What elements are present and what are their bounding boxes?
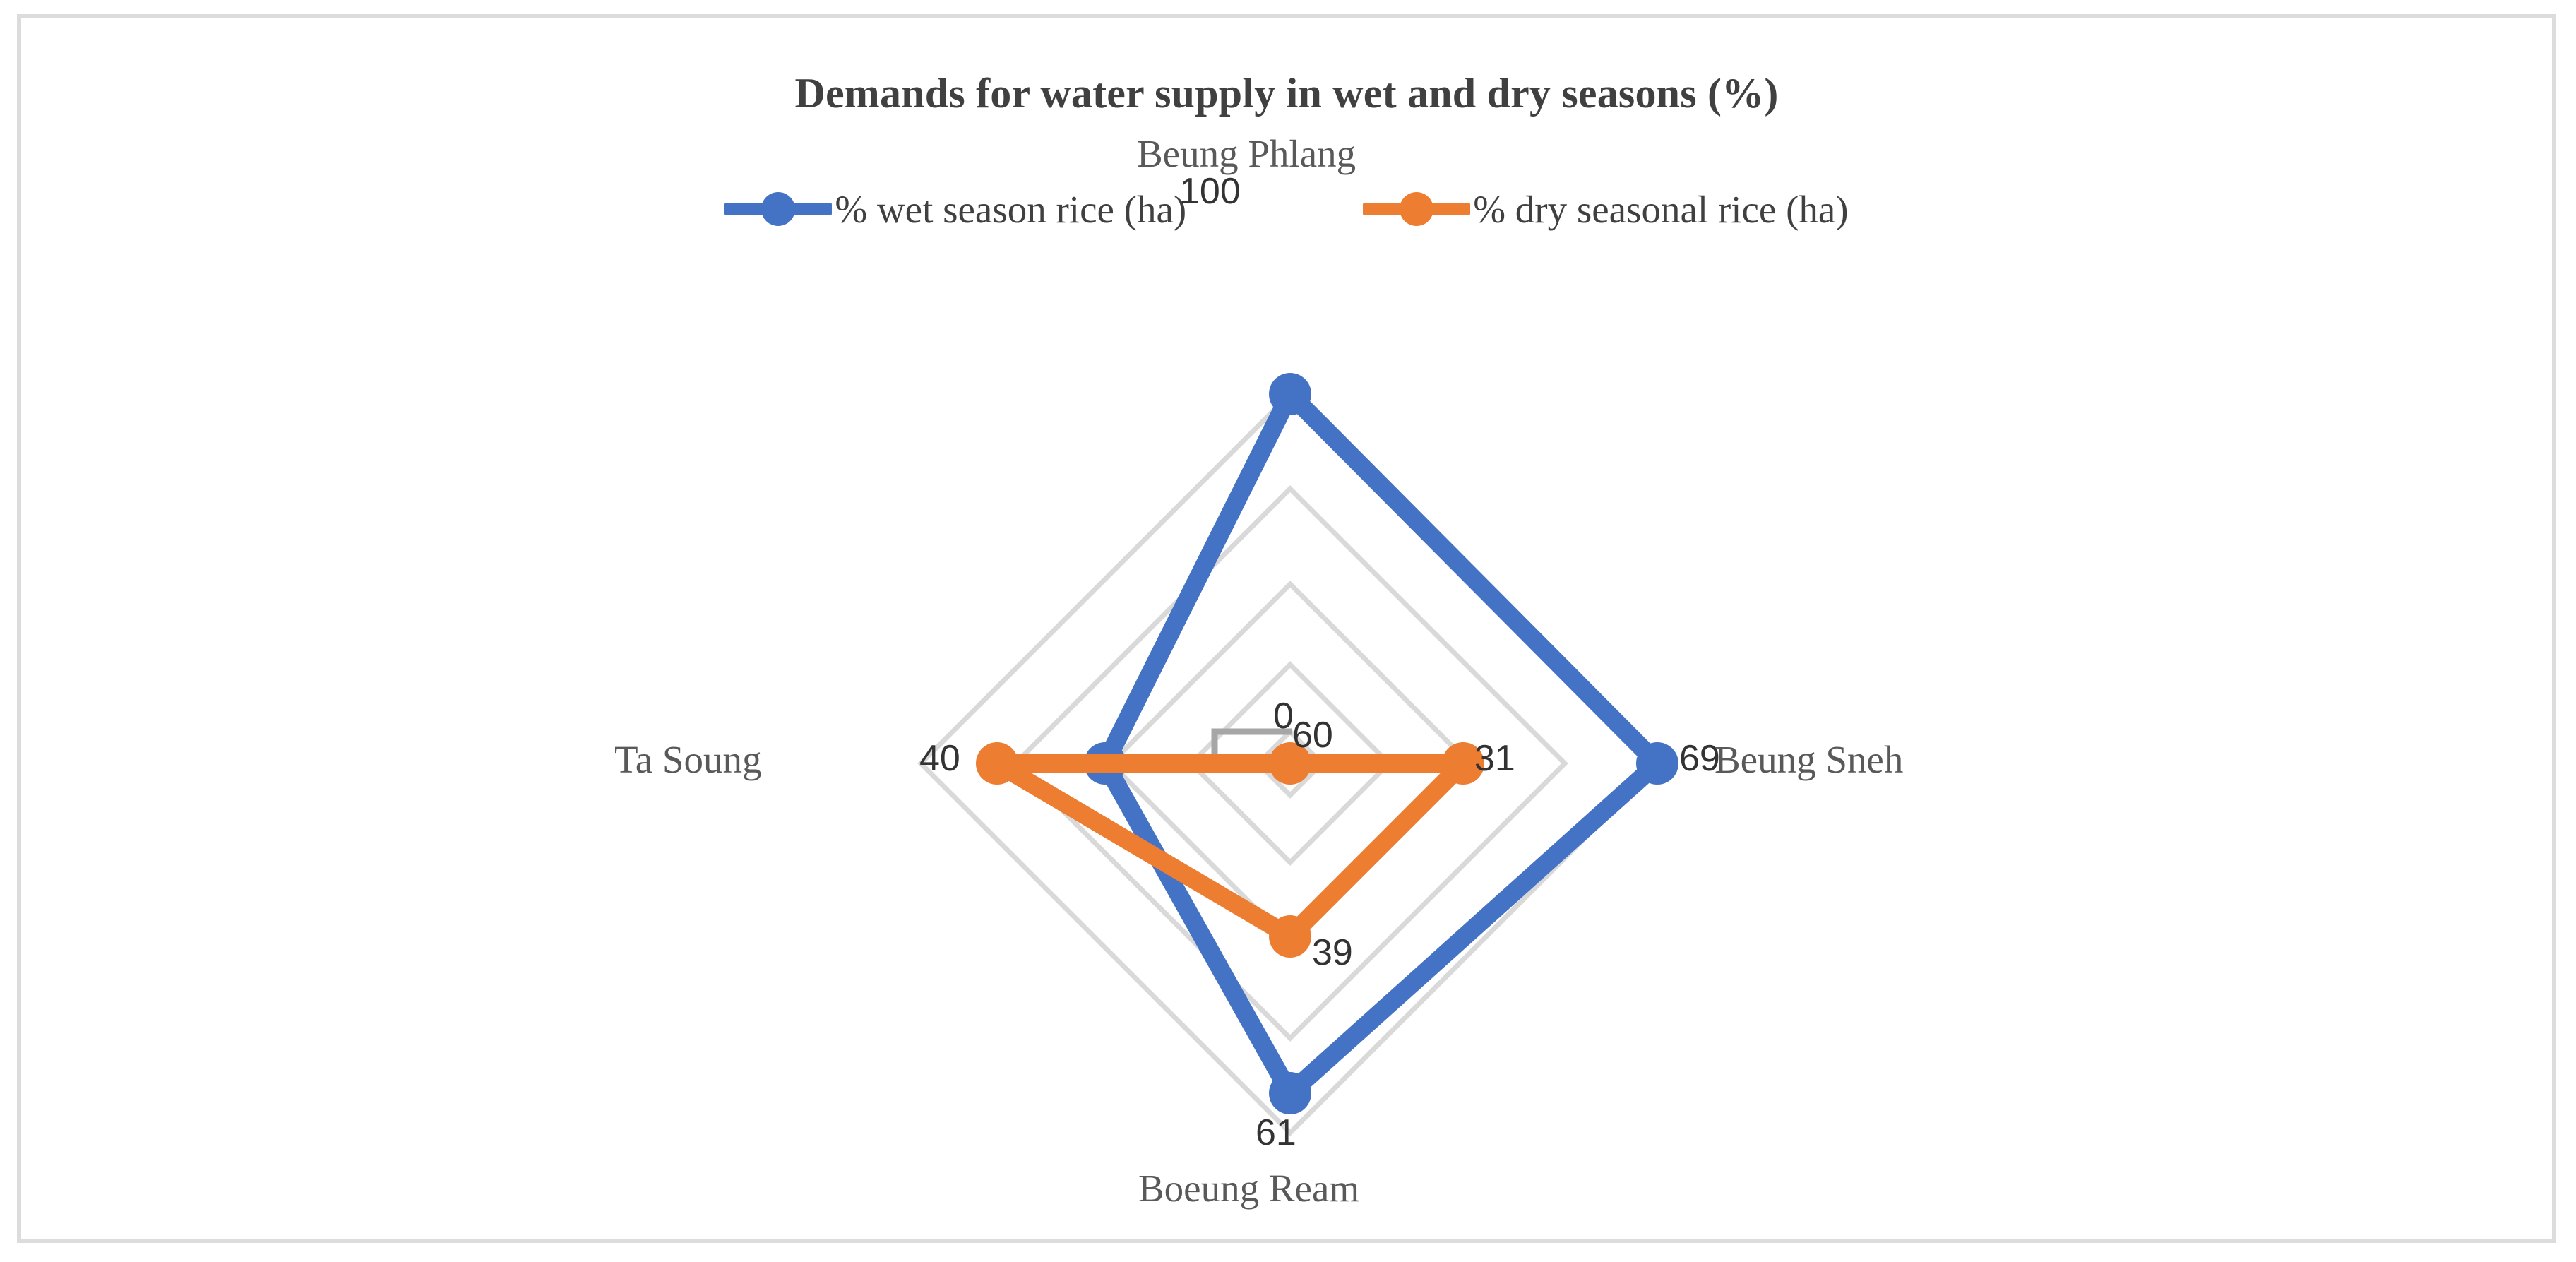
value-label-wet-beung-sneh: 69 [1679,737,1720,780]
series-dry-season-markers [976,742,1484,958]
value-label-wet-ta-soung: 60 [1292,714,1333,756]
radar-plot-area: Beung Phlang Beung Sneh Boeung Ream Ta S… [21,18,2560,1247]
data-point-wet-beung-phlang [1269,373,1311,415]
axis-label-beung-phlang: Beung Phlang [1137,131,1356,176]
radar-chart-svg [21,18,2560,1247]
data-point-dry-boeung-ream [1269,915,1311,958]
axis-label-ta-soung: Ta Soung [614,737,762,782]
value-label-wet-boeung-ream: 61 [1256,1112,1296,1154]
value-label-dry-boeung-ream: 39 [1312,931,1353,974]
chart-frame: Demands for water supply in wet and dry … [17,14,2556,1243]
value-label-dry-beung-sneh: 31 [1474,737,1515,780]
axis-label-boeung-ream: Boeung Ream [1138,1166,1359,1210]
data-point-wet-boeung-ream [1269,1072,1311,1114]
value-label-dry-beung-phlang: 0 [1273,695,1294,737]
value-label-dry-ta-soung: 40 [919,737,960,780]
data-point-wet-beung-sneh [1636,742,1678,785]
value-label-wet-beung-phlang: 100 [1179,170,1241,213]
data-point-dry-ta-soung [976,742,1018,785]
axis-label-beung-sneh: Beung Sneh [1715,737,1903,782]
